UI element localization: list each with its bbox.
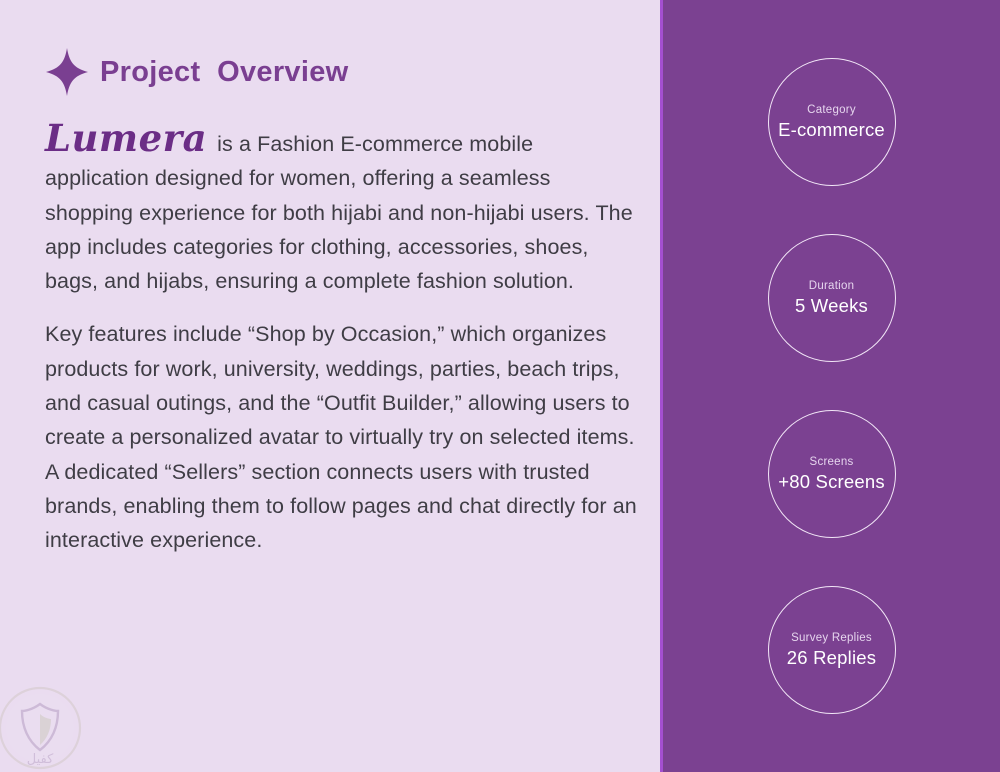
project-overview-slide: Project Overview Lumera is a Fashion E-c… <box>0 0 1000 772</box>
shield-logo-watermark: كفيل <box>0 684 84 772</box>
stat-value: 5 Weeks <box>795 295 868 317</box>
stat-label: Category <box>807 104 856 116</box>
stat-circle-screens: Screens +80 Screens <box>768 410 896 538</box>
stat-label: Screens <box>810 456 854 468</box>
stat-label: Survey Replies <box>791 632 872 644</box>
overview-paragraph-1: Lumera is a Fashion E-commerce mobile ap… <box>45 122 641 298</box>
stat-value: 26 Replies <box>787 647 876 669</box>
stat-value: E-commerce <box>778 119 885 141</box>
stat-circle-duration: Duration 5 Weeks <box>768 234 896 362</box>
page-title: Project Overview <box>100 56 349 89</box>
stat-circle-category: Category E-commerce <box>768 58 896 186</box>
watermark-arabic-text: كفيل <box>27 752 54 767</box>
stats-panel: Category E-commerce Duration 5 Weeks Scr… <box>663 0 1000 772</box>
stat-label: Duration <box>809 280 854 292</box>
overview-paragraph-2: Key features include “Shop by Occasion,”… <box>45 317 641 557</box>
left-content-panel: Project Overview Lumera is a Fashion E-c… <box>0 0 660 772</box>
brand-wordmark: Lumera <box>45 116 211 160</box>
page-header: Project Overview <box>45 46 660 98</box>
stat-value: +80 Screens <box>778 471 885 493</box>
sparkle-icon <box>45 47 89 97</box>
stat-circle-survey-replies: Survey Replies 26 Replies <box>768 586 896 714</box>
